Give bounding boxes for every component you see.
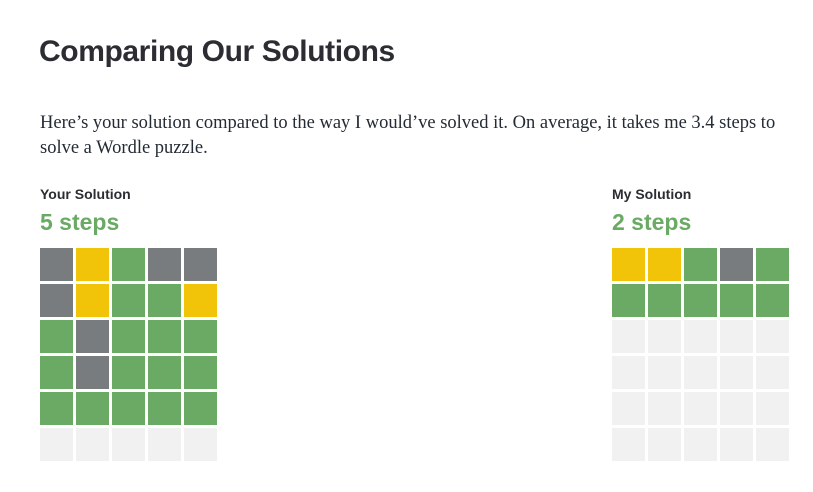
wordle-tile-green — [756, 284, 789, 317]
wordle-tile-empty — [756, 356, 789, 389]
wordle-tile-green — [40, 320, 73, 353]
wordle-tile-green — [148, 284, 181, 317]
wordle-tile-gray — [76, 320, 109, 353]
wordle-tile-green — [112, 248, 145, 281]
wordle-tile-empty — [112, 428, 145, 461]
your-solution-steps: 5 steps — [40, 209, 220, 236]
wordle-tile-gray — [720, 248, 753, 281]
wordle-tile-green — [112, 356, 145, 389]
your-solution-label: Your Solution — [40, 185, 220, 203]
wordle-tile-yellow — [648, 248, 681, 281]
wordle-tile-gray — [148, 248, 181, 281]
wordle-tile-empty — [720, 428, 753, 461]
wordle-tile-empty — [756, 428, 789, 461]
wordle-tile-empty — [648, 392, 681, 425]
wordle-tile-empty — [684, 320, 717, 353]
wordle-tile-yellow — [184, 284, 217, 317]
wordle-tile-empty — [720, 356, 753, 389]
wordle-tile-empty — [648, 356, 681, 389]
wordle-tile-empty — [76, 428, 109, 461]
wordle-tile-yellow — [76, 284, 109, 317]
wordle-tile-green — [148, 356, 181, 389]
wordle-tile-empty — [756, 320, 789, 353]
your-solution-column: Your Solution 5 steps — [40, 185, 220, 461]
wordle-tile-green — [76, 392, 109, 425]
wordle-tile-empty — [684, 428, 717, 461]
wordle-tile-green — [756, 248, 789, 281]
wordle-tile-empty — [612, 392, 645, 425]
wordle-tile-empty — [148, 428, 181, 461]
wordle-tile-empty — [684, 392, 717, 425]
wordle-tile-gray — [40, 248, 73, 281]
comparison-page: Comparing Our Solutions Here’s your solu… — [0, 0, 813, 492]
wordle-tile-empty — [684, 356, 717, 389]
wordle-tile-gray — [76, 356, 109, 389]
wordle-tile-empty — [648, 320, 681, 353]
wordle-tile-green — [684, 284, 717, 317]
wordle-tile-green — [148, 320, 181, 353]
wordle-tile-green — [184, 392, 217, 425]
wordle-tile-empty — [612, 428, 645, 461]
my-solution-label: My Solution — [612, 185, 792, 203]
my-solution-steps: 2 steps — [612, 209, 792, 236]
wordle-tile-empty — [612, 320, 645, 353]
wordle-tile-empty — [756, 392, 789, 425]
wordle-tile-yellow — [76, 248, 109, 281]
my-solution-grid — [612, 248, 792, 461]
wordle-tile-green — [112, 320, 145, 353]
wordle-tile-green — [684, 248, 717, 281]
wordle-tile-green — [612, 284, 645, 317]
wordle-tile-green — [184, 356, 217, 389]
wordle-tile-green — [148, 392, 181, 425]
wordle-tile-empty — [612, 356, 645, 389]
wordle-tile-green — [648, 284, 681, 317]
wordle-tile-green — [112, 284, 145, 317]
wordle-tile-empty — [648, 428, 681, 461]
wordle-tile-empty — [720, 320, 753, 353]
wordle-tile-empty — [184, 428, 217, 461]
your-solution-grid — [40, 248, 220, 461]
wordle-tile-green — [720, 284, 753, 317]
wordle-tile-gray — [184, 248, 217, 281]
wordle-tile-gray — [40, 284, 73, 317]
wordle-tile-green — [40, 392, 73, 425]
wordle-tile-empty — [720, 392, 753, 425]
wordle-tile-empty — [40, 428, 73, 461]
wordle-tile-green — [112, 392, 145, 425]
wordle-tile-green — [184, 320, 217, 353]
wordle-tile-green — [40, 356, 73, 389]
solutions-comparison: Your Solution 5 steps My Solution 2 step… — [0, 0, 813, 492]
my-solution-column: My Solution 2 steps — [612, 185, 792, 461]
wordle-tile-yellow — [612, 248, 645, 281]
